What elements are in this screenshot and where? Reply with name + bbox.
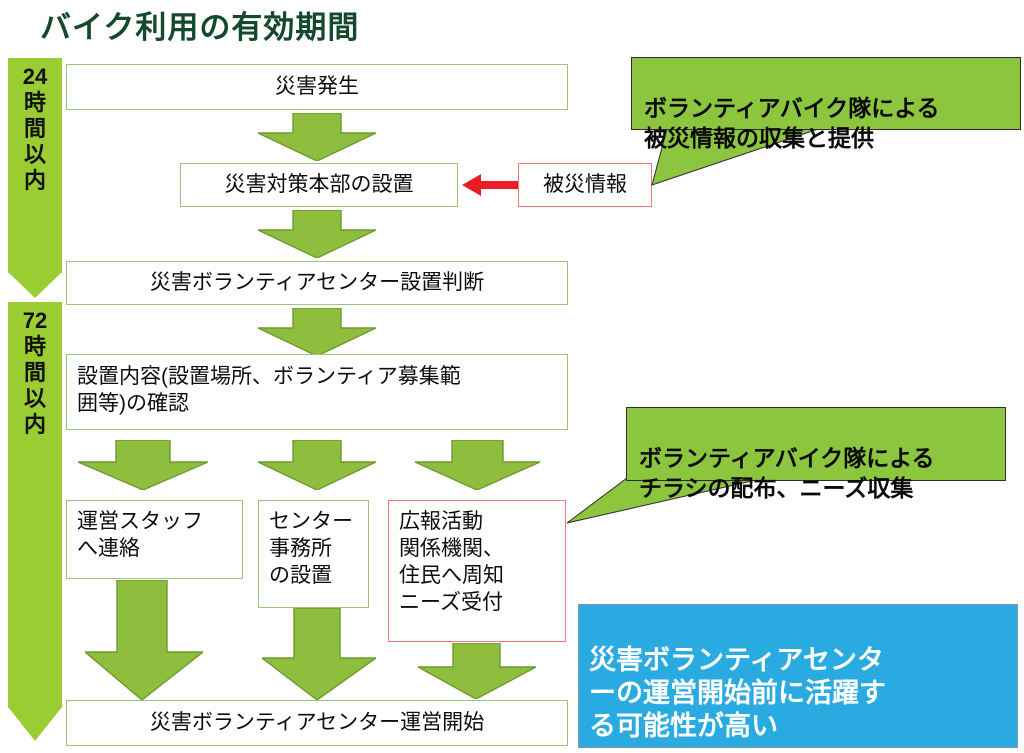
- down-arrow-icon: [258, 210, 376, 258]
- phase-24h-number: 24: [8, 64, 62, 90]
- flow-node-disaster-occurs-label: 災害発生: [275, 74, 359, 101]
- down-arrow-icon: [418, 643, 536, 699]
- phase-72h-char-0: 時: [8, 334, 62, 360]
- callout-info-collection[interactable]: ボランティアバイク隊による 被災情報の収集と提供: [631, 57, 1021, 130]
- phase-24h-char-3: 内: [8, 168, 62, 194]
- phase-24h-char-1: 間: [8, 116, 62, 142]
- red-left-arrow-icon: [462, 173, 520, 197]
- phase-72h-char-3: 内: [8, 412, 62, 438]
- down-arrow-icon: [262, 608, 376, 700]
- flow-node-pr-activities[interactable]: 広報活動 関係機関、 住民へ周知 ニーズ受付: [388, 500, 566, 642]
- down-arrow-icon: [258, 308, 376, 356]
- timeline-phase-24h: 24 時 間 以 内: [8, 58, 62, 273]
- down-arrow-icon: [85, 580, 203, 700]
- flow-node-setup-details-label: 設置内容(設置場所、ボランティア募集範 囲等)の確認: [77, 364, 461, 418]
- conclusion-blue-text: 災害ボランティアセンタ ーの運営開始前に活躍す る可能性が高い: [589, 645, 886, 741]
- down-arrow-icon: [78, 440, 208, 490]
- timeline-phase-24h-point: [8, 272, 62, 298]
- phase-72h-char-2: 以: [8, 386, 62, 412]
- flow-node-contact-staff-label: 運営スタッフ へ連絡: [77, 509, 203, 563]
- flow-node-center-office-label: センター 事務所 の設置: [269, 509, 353, 590]
- timeline-phase-72h: 72 時 間 以 内: [8, 302, 62, 708]
- flow-node-pr-activities-label: 広報活動 関係機関、 住民へ周知 ニーズ受付: [399, 509, 504, 617]
- down-arrow-icon: [258, 440, 376, 490]
- conclusion-blue[interactable]: 災害ボランティアセンタ ーの運営開始前に活躍す る可能性が高い: [578, 604, 1018, 748]
- callout-info-collection-text: ボランティアバイク隊による 被災情報の収集と提供: [644, 95, 940, 151]
- down-arrow-icon: [258, 113, 376, 161]
- slide-canvas: バイク利用の有効期間 24 時 間 以 内 72 時 間 以 内 災害発生: [0, 0, 1024, 753]
- phase-72h-char-1: 間: [8, 360, 62, 386]
- flow-node-vc-setup-decision[interactable]: 災害ボランティアセンター設置判断: [66, 261, 568, 305]
- phase-24h-char-2: 以: [8, 142, 62, 168]
- down-arrow-icon: [415, 440, 540, 490]
- callout-leaflet-needs-text: ボランティアバイク隊による チラシの配布、ニーズ収集: [639, 445, 935, 501]
- flow-node-hq-establishment-label: 災害対策本部の設置: [225, 172, 414, 199]
- flow-node-vc-setup-decision-label: 災害ボランティアセンター設置判断: [150, 270, 484, 297]
- page-title: バイク利用の有効期間: [40, 2, 359, 47]
- flow-node-setup-details[interactable]: 設置内容(設置場所、ボランティア募集範 囲等)の確認: [66, 354, 568, 430]
- flow-node-disaster-occurs[interactable]: 災害発生: [66, 64, 568, 110]
- phase-24h-char-0: 時: [8, 90, 62, 116]
- flow-node-vc-operation-start[interactable]: 災害ボランティアセンター運営開始: [66, 700, 568, 746]
- timeline-phase-72h-point: [8, 707, 62, 741]
- flow-node-damage-info-label: 被災情報: [543, 172, 627, 199]
- flow-node-contact-staff[interactable]: 運営スタッフ へ連絡: [66, 500, 243, 579]
- callout-leaflet-needs[interactable]: ボランティアバイク隊による チラシの配布、ニーズ収集: [626, 407, 1006, 481]
- flow-node-hq-establishment[interactable]: 災害対策本部の設置: [180, 163, 458, 207]
- flow-node-vc-operation-start-label: 災害ボランティアセンター運営開始: [150, 710, 484, 737]
- phase-72h-number: 72: [8, 308, 62, 334]
- flow-node-center-office[interactable]: センター 事務所 の設置: [258, 500, 369, 608]
